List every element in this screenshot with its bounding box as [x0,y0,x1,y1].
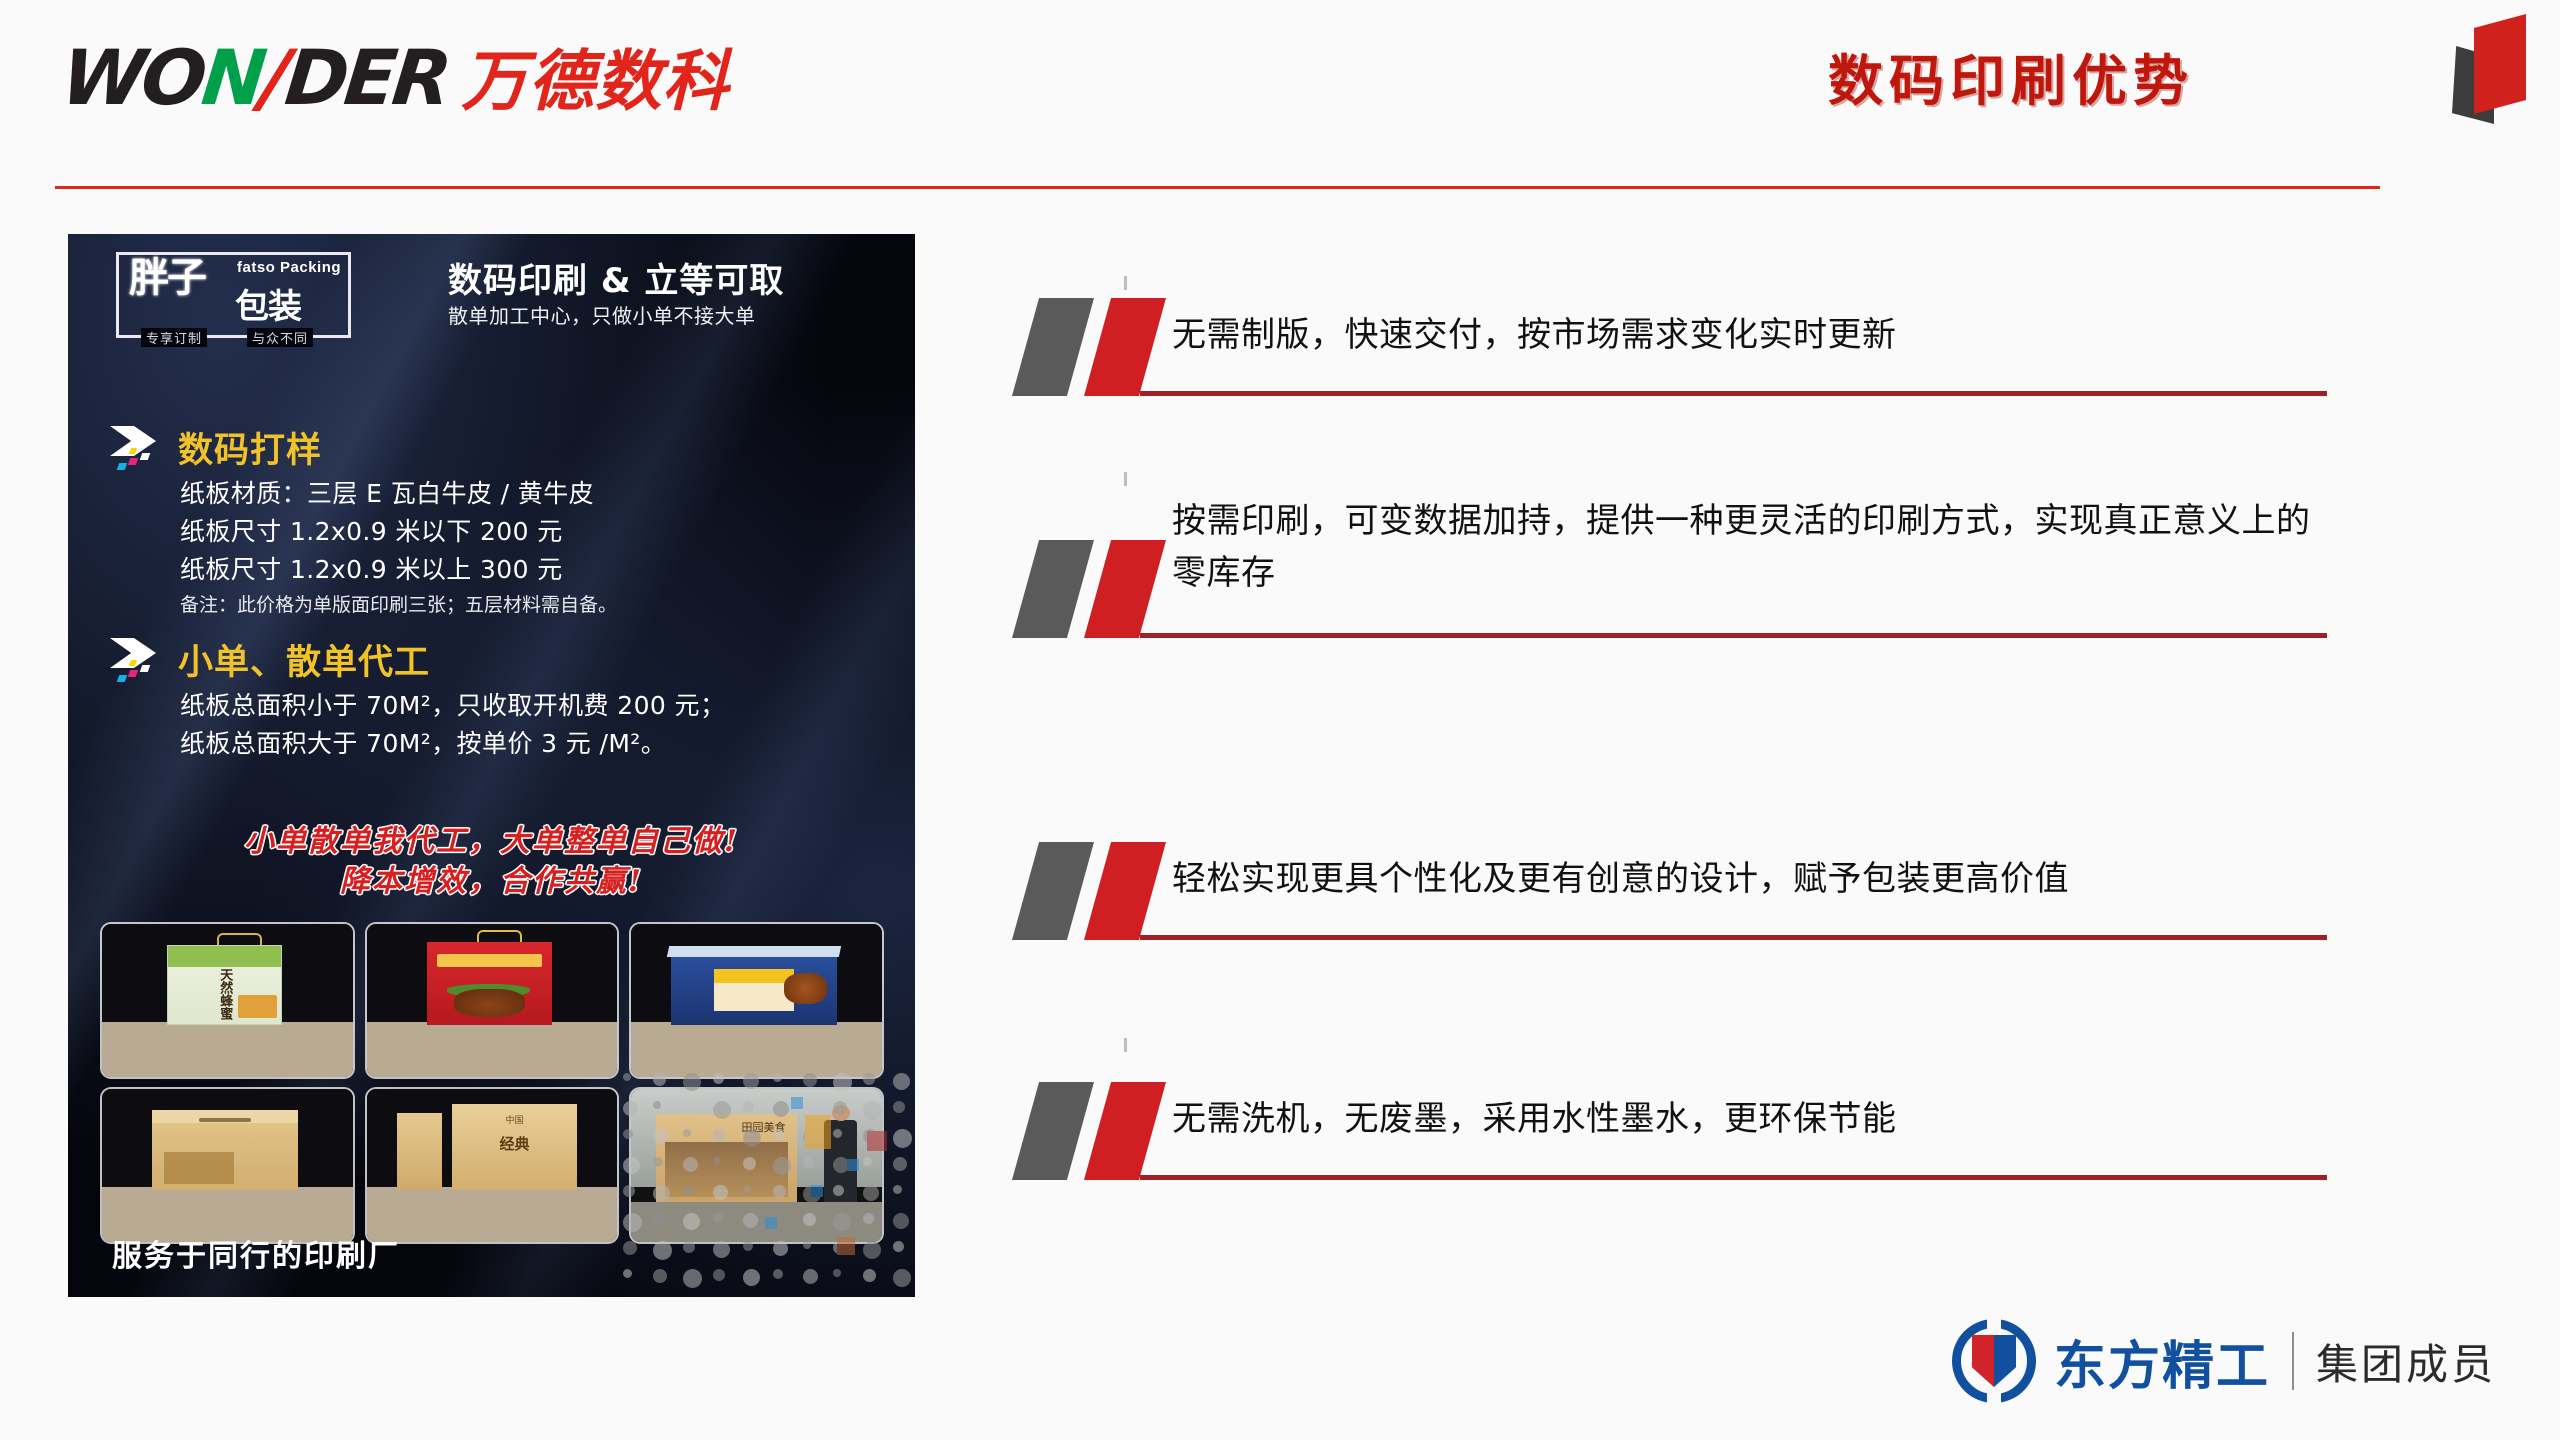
halftone-dot [623,1241,637,1255]
halftone-dot [803,1241,811,1249]
corner-decoration-icon [2452,10,2544,125]
halftone-accent [811,1185,823,1197]
halftone-dot [653,1073,666,1086]
box-graphic-food [784,973,827,1004]
halftone-dot [623,1073,631,1081]
product-box-small [397,1113,442,1190]
halftone-dot [773,1101,789,1117]
page-title: 数码印刷优势 [1828,36,2194,116]
product-box: 天然蜂蜜 [167,945,282,1025]
chevron-marker-icon [1012,842,1172,940]
fatso-logo-tag-right: 与众不同 [247,328,313,347]
halftone-dot [863,1157,872,1166]
marker-red-bar [1084,842,1166,940]
halftone-dot [863,1241,881,1259]
halftone-dot [743,1269,760,1286]
slogan-line-2: 降本增效，合作共赢! [68,862,915,902]
photo-floor [367,1022,618,1077]
halftone-dot [833,1269,841,1277]
halftone-dot [713,1269,725,1281]
halftone-dot [713,1157,721,1165]
benefit-text: 轻松实现更具个性化及更有创意的设计，赋予包装更高价值 [1172,854,2322,906]
box-graphic-food [454,989,524,1017]
halftone-dot [683,1269,702,1288]
halftone-dot [803,1101,812,1110]
fatso-logo-cn-primary: 胖子 [129,257,205,299]
halftone-accent [765,1217,777,1229]
benefit-underline [1140,391,2327,396]
marker-gray-bar [1012,1082,1094,1180]
halftone-accent [867,1131,887,1151]
halftone-dot [653,1101,661,1109]
box-text: 天然蜂蜜 [215,968,234,1020]
tick-mark [1124,276,1127,290]
brand-logo: WON/DER 万德数科 [62,40,729,112]
halftone-dot [893,1073,910,1090]
chevron-marker-icon [1012,298,1172,396]
footer-divider [2292,1332,2294,1390]
halftone-dot [863,1185,879,1201]
halftone-accent [805,1115,831,1149]
box-top-band [168,946,281,966]
halftone-dot [713,1073,724,1084]
halftone-dot [743,1129,761,1147]
halftone-dot [683,1073,701,1091]
box-handle [477,930,522,942]
halftone-dot [893,1213,909,1229]
box-lid [667,946,841,957]
halftone-dot [803,1213,816,1226]
halftone-dot [683,1185,693,1195]
product-photo [102,1089,353,1242]
box-top-band [437,954,542,967]
halftone-dot [773,1157,791,1175]
chevron-dot-white [140,665,151,672]
page-header: WON/DER 万德数科 数码印刷优势 [0,0,2560,195]
poster-header: 胖子 fatso Packing 包装 专享订制 与众不同 数码印刷 & 立等可… [68,234,915,354]
fatso-logo-cn-secondary: 包装 [235,279,301,328]
halftone-dot [653,1157,663,1167]
halftone-dot [743,1101,754,1112]
halftone-dot [743,1185,751,1193]
halftone-dot [863,1213,874,1224]
section-line: 纸板尺寸 1.2x0.9 米以上 300 元 [180,550,563,586]
halftone-dot [683,1157,698,1172]
section-line: 纸板总面积小于 70M²，只收取开机费 200 元； [180,686,725,722]
product-box [671,955,836,1025]
halftone-dot [833,1073,852,1092]
chevron-dot-white [140,453,151,460]
halftone-dot [623,1129,633,1139]
photo-floor [367,1187,618,1242]
product-box [152,1110,297,1190]
box-graphic [238,995,277,1018]
section-title: 小单、散单代工 [178,634,430,685]
halftone-dot [833,1101,847,1115]
promotional-poster-image: 胖子 fatso Packing 包装 专享订制 与众不同 数码印刷 & 立等可… [68,234,915,1297]
halftone-dot [833,1185,844,1196]
dot-pattern-decoration [615,1067,915,1297]
halftone-dot [653,1129,668,1144]
emblem-notch-bottom [1987,1386,2001,1406]
halftone-dot [683,1241,695,1253]
section-line: 纸板总面积大于 70M²，按单价 3 元 /M²。 [180,724,666,760]
marker-red-bar [1084,540,1166,638]
section-line: 纸板材质：三层 E 瓦白牛皮 / 黄牛皮 [180,474,594,510]
box-center-text: 经典 [500,1133,530,1154]
product-box [427,942,552,1025]
brand-letters-der: DER [281,33,452,122]
halftone-dot [743,1213,758,1228]
label-band [714,969,793,983]
brand-wordmark: WON/DER [58,40,451,116]
halftone-dot [623,1101,638,1116]
brand-letter-o: O [137,33,207,122]
marker-gray-bar [1012,540,1094,638]
halftone-dot [713,1101,731,1119]
section-note: 备注：此价格为单版面印刷三张；五层材料需自备。 [180,590,617,617]
halftone-dot [893,1185,902,1194]
halftone-dot [623,1185,635,1197]
poster-subheadline: 散单加工中心，只做小单不接大单 [448,300,756,329]
halftone-dot [863,1269,876,1282]
halftone-dot [863,1073,875,1085]
footer-member-label: 集团成员 [2316,1331,2496,1392]
box-handle [217,933,262,945]
poster-slogan: 小单散单我代工，大单整单自己做! 降本增效，合作共赢! [68,822,915,901]
chevron-marker-icon [1012,1082,1172,1180]
section-title: 数码打样 [178,422,322,473]
brand-letter-n-green: N [198,33,267,122]
halftone-accent [847,1159,859,1171]
halftone-dot [803,1269,818,1284]
halftone-dot [713,1213,723,1223]
product-photo: 天然蜂蜜 [102,924,353,1077]
fatso-packing-logo: 胖子 fatso Packing 包装 专享订制 与众不同 [116,252,351,338]
halftone-dot [653,1185,670,1202]
halftone-dot [893,1241,904,1252]
chevron-marker-icon [1012,540,1172,638]
halftone-dot [683,1101,696,1114]
chevron-arrow-icon [110,638,166,684]
benefit-underline [1140,1175,2327,1180]
halftone-dot [773,1129,784,1140]
halftone-dot [683,1213,700,1230]
halftone-dot [833,1129,842,1138]
photo-floor [102,1022,353,1077]
benefit-text: 无需制版，快速交付，按市场需求变化实时更新 [1172,310,2322,362]
halftone-accent [837,1237,855,1255]
benefit-text: 无需洗机，无废墨，采用水性墨水，更环保节能 [1172,1094,2322,1146]
box-artwork [164,1152,234,1184]
halftone-dot [833,1213,851,1231]
chevron-dot-magenta [128,670,139,677]
benefit-text: 按需印刷，可变数据加持，提供一种更灵活的印刷方式，实现真正意义上的零库存 [1172,496,2322,599]
halftone-dot [863,1101,882,1120]
halftone-dot [653,1213,665,1225]
footer-group-logo: 东方精工 集团成员 [1952,1315,2496,1407]
chevron-dot-cyan [117,675,128,682]
chevron-dot-cyan [117,463,128,470]
poster-headline: 数码印刷 & 立等可取 [448,253,784,302]
product-photo [367,924,618,1077]
halftone-dot [683,1129,691,1137]
halftone-dot [713,1185,728,1200]
halftone-dot [653,1269,667,1283]
halftone-dot [623,1269,632,1278]
halftone-accent [791,1097,803,1109]
corner-red-shape [2474,14,2526,114]
halftone-dot [743,1073,759,1089]
tick-mark [1124,472,1127,486]
halftone-dot [773,1185,786,1198]
halftone-dot [893,1101,905,1113]
brand-letter-w: W [57,33,146,122]
halftone-dot [623,1157,640,1174]
halftone-dot [773,1073,782,1082]
halftone-dot [803,1157,814,1168]
product-box-large: 中国 经典 [452,1104,577,1190]
benefit-underline [1140,935,2327,940]
marker-gray-bar [1012,298,1094,396]
fatso-logo-tag-left: 专享订制 [141,328,207,347]
tick-mark [1124,1038,1127,1052]
footer-company-name: 东方精工 [2054,1324,2270,1399]
product-photo: 中国 经典 [367,1089,618,1242]
halftone-dot [893,1157,907,1171]
halftone-dot [743,1157,756,1170]
halftone-dot [713,1129,726,1142]
product-photo [631,924,882,1077]
box-handle-slot [199,1118,251,1122]
halftone-dot [743,1241,753,1251]
halftone-dot [893,1269,911,1287]
marker-gray-bar [1012,842,1094,940]
header-divider-rule [55,186,2380,189]
chevron-arrow-icon [110,426,166,472]
halftone-dot [653,1241,672,1260]
halftone-dot [623,1213,642,1232]
halftone-dot [803,1073,817,1087]
marker-red-bar [1084,1082,1166,1180]
poster-caption: 服务于同行的印刷厂 [112,1231,400,1275]
fatso-logo-en: fatso Packing [237,259,341,276]
emblem-notch-top [1987,1316,2001,1336]
halftone-dot [893,1129,912,1148]
section-line: 纸板尺寸 1.2x0.9 米以下 200 元 [180,512,563,548]
box-label [714,969,793,1011]
halftone-dot [773,1241,788,1256]
marker-red-bar [1084,298,1166,396]
brand-chinese-name: 万德数科 [461,49,729,115]
benefit-underline [1140,633,2327,638]
halftone-dot [773,1269,783,1279]
dongfang-emblem-icon [1952,1319,2036,1403]
halftone-dot [713,1241,730,1258]
chevron-dot-magenta [128,458,139,465]
slogan-line-1: 小单散单我代工，大单整单自己做! [68,822,915,862]
box-top-text: 中国 [506,1113,524,1126]
